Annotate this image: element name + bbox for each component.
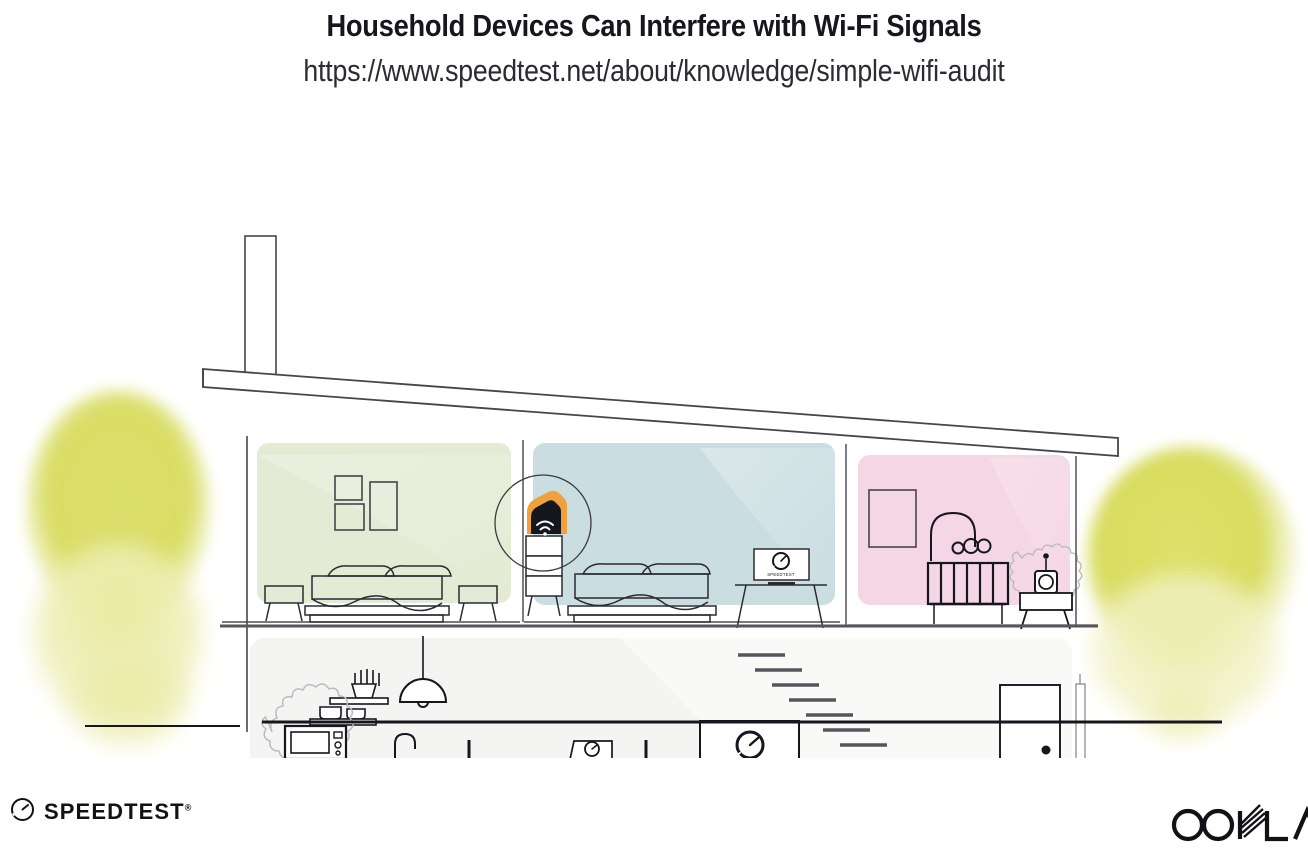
utensil-shelf: [330, 698, 388, 704]
desktop-monitor: SPEEDTEST: [754, 549, 809, 585]
speedtest-trademark: ®: [185, 803, 192, 813]
door-knob[interactable]: [1042, 746, 1051, 755]
room-blue-bedroom: SPEEDTEST: [495, 443, 840, 628]
page-title: Household Devices Can Interfere with Wi-…: [78, 0, 1229, 44]
room-ground-floor: SPEEDTEST: [250, 636, 1085, 758]
microwave: [285, 726, 346, 758]
foliage-left: [26, 390, 210, 750]
page-url: https://www.speedtest.net/about/knowledg…: [92, 44, 1217, 89]
side-table: [1020, 593, 1072, 629]
chimney: [245, 236, 276, 386]
sidelight-window: [1076, 674, 1085, 758]
monitor-screen-logo-text: SPEEDTEST: [767, 572, 795, 577]
foliage-right: [1087, 446, 1297, 743]
speedometer-gauge-icon: [10, 797, 35, 827]
ookla-logo-icon: [1174, 805, 1308, 839]
header: Household Devices Can Interfere with Wi-…: [0, 0, 1308, 89]
speedtest-wordmark: SPEEDTEST: [44, 799, 185, 824]
footer: SPEEDTEST®: [0, 785, 1308, 861]
room-green-bedroom: [222, 443, 520, 622]
television: SPEEDTEST: [700, 721, 799, 758]
roof: [203, 369, 1118, 456]
ookla-logo[interactable]: [1164, 799, 1308, 852]
room-pink-nursery: [848, 455, 1098, 629]
speedtest-logo-text: SPEEDTEST®: [44, 799, 191, 825]
illustration-page: Household Devices Can Interfere with Wi-…: [0, 0, 1308, 861]
speedtest-logo[interactable]: SPEEDTEST®: [10, 797, 191, 827]
house-illustration: SPEEDTEST: [0, 108, 1308, 758]
